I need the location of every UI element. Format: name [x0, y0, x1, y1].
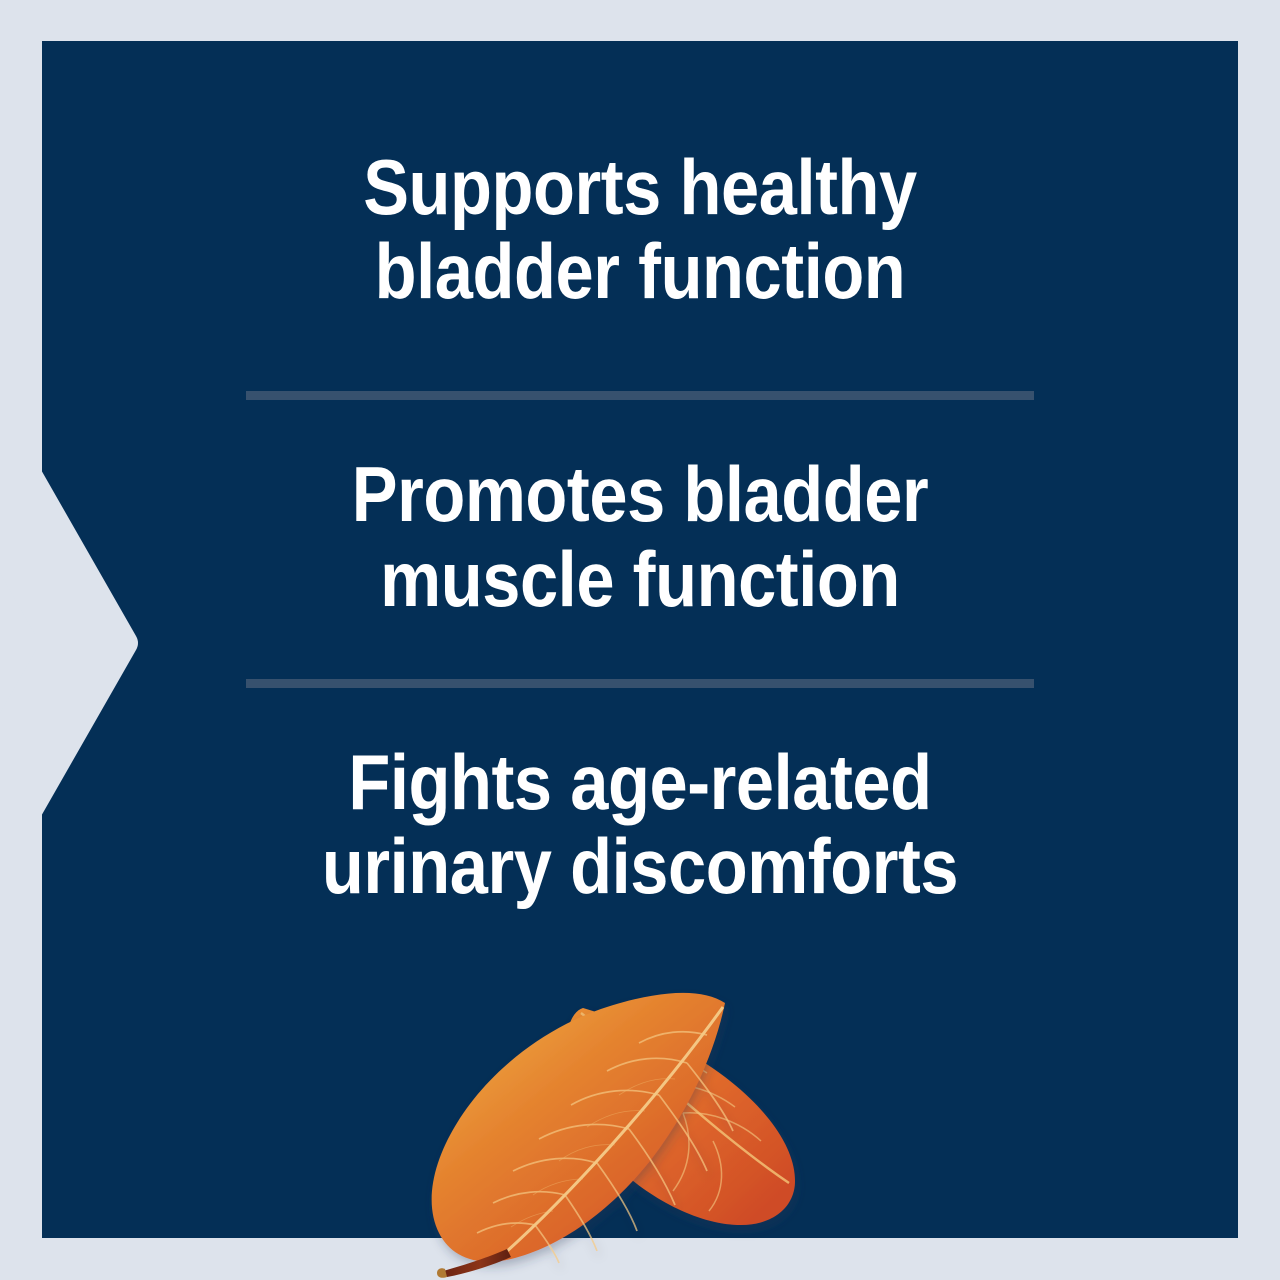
benefit-line-1: Promotes bladder	[275, 452, 1005, 536]
benefit-divider-1	[246, 391, 1034, 400]
benefit-line-1: Fights age-related	[275, 740, 1005, 824]
benefit-line-1: Supports healthy	[275, 145, 1005, 229]
benefit-item-bladder-function: Supports healthy bladder function	[275, 145, 1005, 313]
benefit-line-2: urinary discomforts	[275, 824, 1005, 908]
product-benefits-graphic: Supports healthy bladder function Promot…	[0, 0, 1280, 1280]
benefit-divider-2	[246, 679, 1034, 688]
benefit-item-bladder-muscle: Promotes bladder muscle function	[275, 452, 1005, 620]
benefit-line-2: bladder function	[275, 229, 1005, 313]
benefit-item-urinary-discomfort: Fights age-related urinary discomforts	[275, 740, 1005, 908]
benefit-line-2: muscle function	[275, 537, 1005, 621]
benefits-list: Supports healthy bladder function Promot…	[42, 41, 1238, 1238]
